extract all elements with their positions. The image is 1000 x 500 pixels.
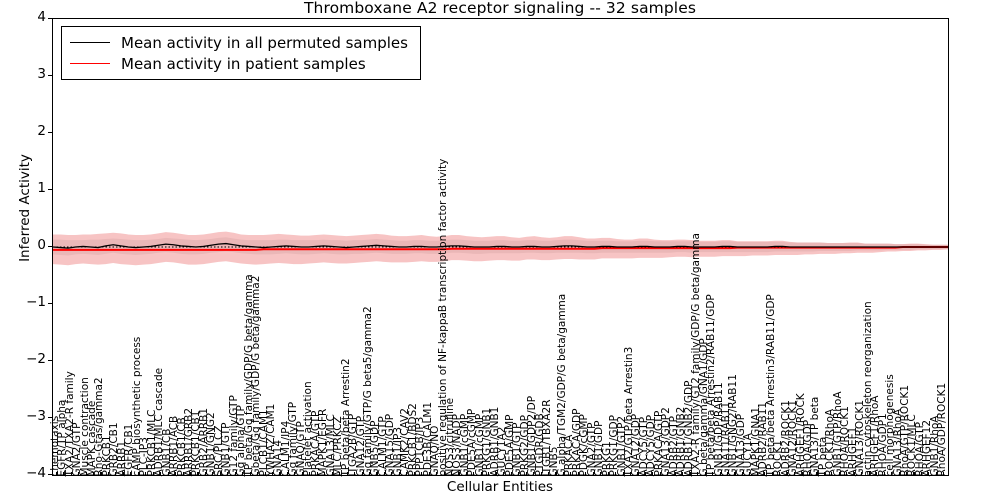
y-tick-label: 1 bbox=[6, 180, 46, 196]
y-tick-label: 2 bbox=[6, 123, 46, 139]
chart-title: Thromboxane A2 receptor signaling -- 32 … bbox=[0, 0, 1000, 17]
legend-label-patient: Mean activity in patient samples bbox=[121, 55, 366, 73]
y-tick-label: −3 bbox=[6, 408, 46, 424]
y-tick-label: 0 bbox=[6, 237, 46, 253]
y-tick-label: 3 bbox=[6, 66, 46, 82]
y-tick-label: −1 bbox=[6, 294, 46, 310]
x-axis-label: Cellular Entities bbox=[0, 479, 1000, 495]
y-tick-label: −2 bbox=[6, 351, 46, 367]
legend-label-permuted: Mean activity in all permuted samples bbox=[121, 34, 408, 52]
legend-swatch-patient bbox=[70, 63, 110, 64]
legend-item-patient: Mean activity in patient samples bbox=[70, 53, 408, 74]
x-tick-label: RhoA/GDP/ROCK1 bbox=[937, 382, 948, 476]
legend-swatch-permuted bbox=[70, 42, 110, 43]
legend-item-permuted: Mean activity in all permuted samples bbox=[70, 32, 408, 53]
x-tick-mark bbox=[943, 472, 944, 477]
chart-legend: Mean activity in all permuted samples Me… bbox=[61, 26, 421, 80]
y-tick-label: 4 bbox=[6, 9, 46, 25]
chart-figure: Thromboxane A2 receptor signaling -- 32 … bbox=[0, 0, 1000, 500]
